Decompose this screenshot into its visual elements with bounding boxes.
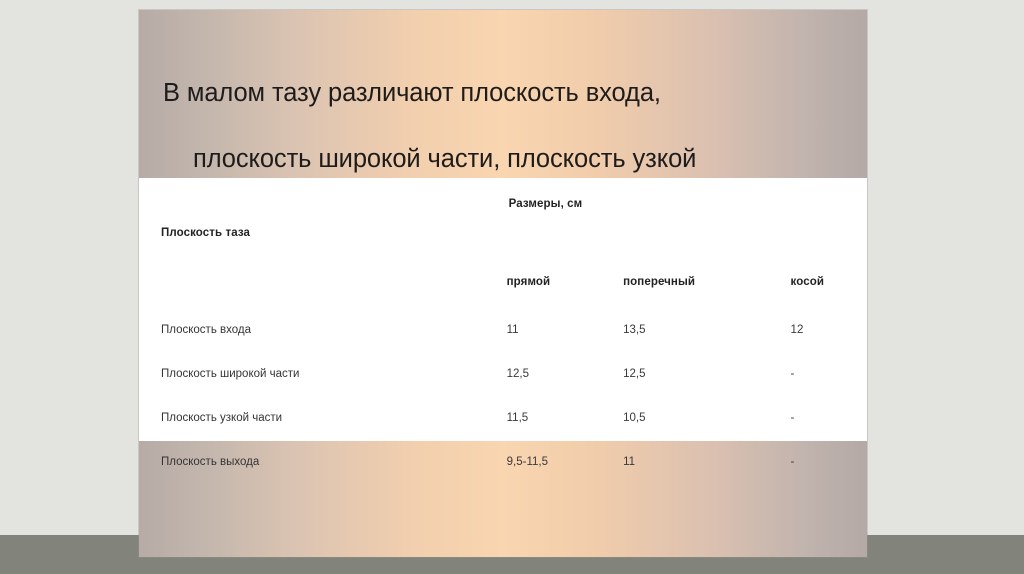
cell-oblique: - [791, 396, 867, 440]
column-header-transverse: поперечный [623, 248, 790, 292]
table-row: Плоскость выхода 9,5-11,5 11 - [139, 440, 867, 484]
pelvis-dimensions-table: Размеры, см Плоскость таза прямой попере… [139, 178, 867, 484]
table-row: Плоскость входа 11 13,5 12 [139, 308, 867, 352]
table-row: Плоскость широкой части 12,5 12,5 - [139, 352, 867, 396]
table-panel: Размеры, см Плоскость таза прямой попере… [139, 178, 867, 441]
slide-title-line-1: В малом тазу различают плоскость входа, [163, 77, 823, 110]
header-axis-blank-2 [623, 218, 790, 248]
presentation-slide: В малом тазу различают плоскость входа, … [139, 10, 867, 557]
spacer-cell-1 [139, 292, 507, 308]
cell-transverse: 12,5 [623, 352, 790, 396]
table-header-group-row: Размеры, см [139, 178, 867, 218]
cell-direct: 9,5-11,5 [507, 440, 623, 484]
header-row-axis-title: Плоскость таза [139, 218, 507, 248]
table-row: Плоскость узкой части 11,5 10,5 - [139, 396, 867, 440]
header-sub-blank [139, 248, 507, 292]
spacer-cell-2 [507, 292, 623, 308]
header-group-title: Размеры, см [507, 178, 867, 218]
page-root: В малом тазу различают плоскость входа, … [0, 0, 1024, 574]
spacer-cell-4 [791, 292, 867, 308]
row-label: Плоскость узкой части [139, 396, 507, 440]
cell-transverse: 11 [623, 440, 790, 484]
table-header-spacer [139, 292, 867, 308]
cell-transverse: 13,5 [623, 308, 790, 352]
cell-transverse: 10,5 [623, 396, 790, 440]
table-header-columns-row: прямой поперечный косой [139, 248, 867, 292]
column-header-direct: прямой [507, 248, 623, 292]
cell-direct: 11,5 [507, 396, 623, 440]
column-header-oblique: косой [791, 248, 867, 292]
slide-title-line-2: плоскость широкой части, плоскость узкой [193, 143, 823, 176]
header-axis-blank-3 [791, 218, 867, 248]
row-label: Плоскость выхода [139, 440, 507, 484]
cell-oblique: 12 [791, 308, 867, 352]
row-label: Плоскость широкой части [139, 352, 507, 396]
header-blank-cell [139, 178, 507, 218]
cell-direct: 11 [507, 308, 623, 352]
header-axis-blank-1 [507, 218, 623, 248]
cell-direct: 12,5 [507, 352, 623, 396]
spacer-cell-3 [623, 292, 790, 308]
table-header-axis-row: Плоскость таза [139, 218, 867, 248]
cell-oblique: - [791, 352, 867, 396]
row-label: Плоскость входа [139, 308, 507, 352]
cell-oblique: - [791, 440, 867, 484]
